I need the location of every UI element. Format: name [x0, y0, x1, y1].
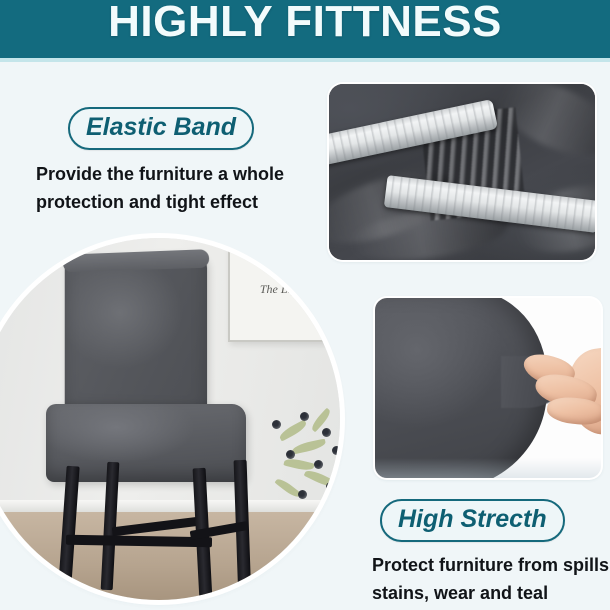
plant-leaf [278, 419, 309, 441]
chair-back-cover [65, 252, 207, 423]
description-line: protection and tight effect [36, 188, 284, 216]
infographic-page: HIGHLY FITTNESS Elastic Band Provide the… [0, 0, 610, 610]
page-title: HIGHLY FITTNESS [0, 0, 610, 51]
description-line: Protect furniture from spills, [372, 551, 610, 579]
plant-berry [322, 428, 331, 437]
feature-label-high-stretch: High Strecth [380, 499, 565, 542]
plant-berry [332, 446, 340, 455]
photo-shadow [375, 458, 601, 478]
header-underline [0, 58, 610, 62]
plant-leaf [291, 439, 326, 455]
description-line: Provide the furniture a whole [36, 160, 284, 188]
plant-berry [300, 412, 309, 421]
chair-leg-front-left [57, 466, 79, 600]
plant-berry [298, 490, 307, 499]
photo-bar-stool-cover: The Light [0, 238, 340, 600]
feature-description-elastic-band: Provide the furniture a whole protection… [36, 160, 284, 216]
plant-berry [286, 450, 295, 459]
bar-stool [40, 254, 272, 600]
decorative-plant [270, 398, 340, 518]
plant-berry [314, 460, 323, 469]
chair-rung-middle [112, 517, 200, 537]
header-banner: HIGHLY FITTNESS [0, 0, 610, 58]
hand-illustration [521, 340, 601, 448]
photo-elastic-band-closeup [329, 84, 595, 260]
feature-description-high-stretch: Protect furniture from spills, stains, w… [372, 551, 610, 607]
description-line: stains, wear and teal [372, 579, 610, 607]
plant-berry [272, 420, 281, 429]
feature-label-elastic-band: Elastic Band [68, 107, 254, 150]
plant-berry [326, 482, 335, 491]
photo-hand-stretching-fabric [375, 298, 601, 478]
